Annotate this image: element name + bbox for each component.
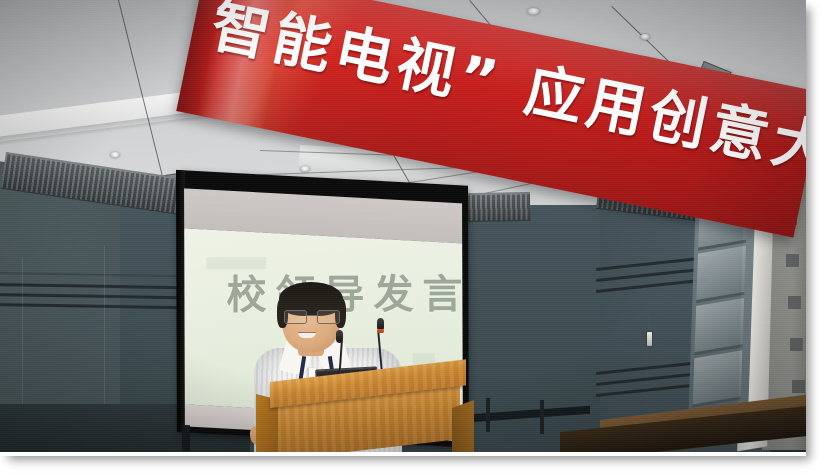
glasses-bridge <box>305 315 317 316</box>
downlight-icon <box>110 152 120 158</box>
wall-tile <box>792 380 805 393</box>
photograph: 校领导发言 <box>0 0 806 452</box>
screen-support <box>182 425 190 451</box>
rail-post <box>540 400 544 434</box>
mic-indicator <box>377 329 384 333</box>
glass-pane <box>696 246 746 303</box>
wall-tile <box>790 338 803 351</box>
glasses-lens <box>284 310 307 324</box>
downlight-icon <box>640 34 650 40</box>
downlight-icon <box>300 166 310 172</box>
glasses-icon <box>284 310 338 322</box>
downlight-icon <box>527 8 540 15</box>
door-handle-icon[interactable] <box>647 332 652 346</box>
wall-tile <box>788 296 801 309</box>
glass-pane <box>693 350 743 407</box>
mic-head <box>336 330 343 343</box>
podium <box>256 382 466 452</box>
podium-right-edge <box>452 400 474 452</box>
rail-post <box>486 398 490 432</box>
photo-frame: 校领导发言 <box>0 0 806 456</box>
slide-decoration <box>206 257 266 269</box>
glasses-lens <box>317 310 340 324</box>
glass-pane <box>694 298 744 355</box>
wall-tile <box>786 254 799 267</box>
